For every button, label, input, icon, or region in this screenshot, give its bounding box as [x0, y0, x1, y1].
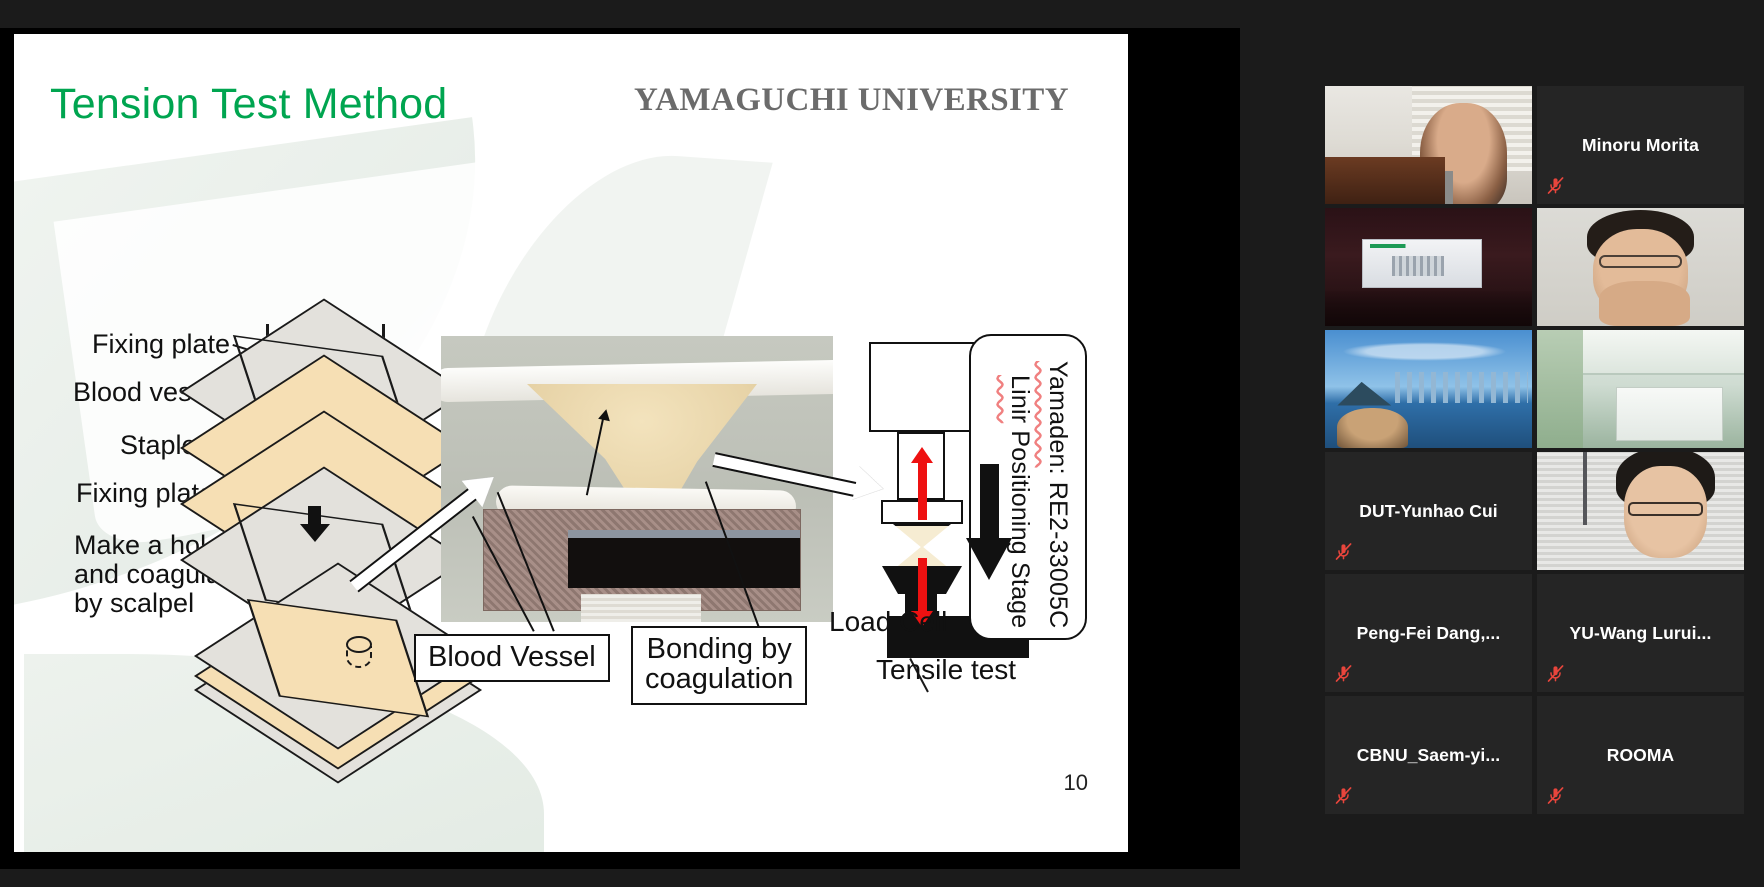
participant-tile-7[interactable]: DUT-Yunhao Cui [1325, 452, 1532, 570]
slide-page-number: 10 [1064, 770, 1088, 796]
red-arrow-down-icon [918, 558, 927, 612]
stage-label-line2: Yamaden: RE2-33005C [1043, 361, 1072, 628]
shared-screen-area[interactable]: Tension Test Method YAMAGUCHI UNIVERSITY… [0, 28, 1240, 869]
mic-muted-icon [1546, 785, 1565, 806]
mic-muted-icon [1546, 663, 1565, 684]
participant-video-feed [1325, 208, 1532, 326]
participant-video-feed [1537, 330, 1744, 448]
participant-tile-2[interactable]: Minoru Morita [1537, 86, 1744, 204]
university-brand-text: YAMAGUCHI UNIVERSITY [634, 82, 1069, 119]
participant-tile-1[interactable] [1325, 86, 1532, 204]
participant-video-feed [1537, 208, 1744, 326]
participant-video-feed [1325, 330, 1532, 448]
assembled-fixture-diagram [246, 554, 436, 664]
stage-travel-down-arrow-icon [966, 464, 1012, 584]
mic-muted-icon [1334, 785, 1353, 806]
mic-muted-icon [1334, 663, 1353, 684]
caption-bonding-by-coagulation: Bonding by coagulation [631, 626, 807, 705]
participant-name-label: ROOMA [1601, 745, 1681, 766]
participant-name-label: Minoru Morita [1576, 135, 1705, 156]
participant-tile-8[interactable] [1537, 452, 1744, 570]
pointer-arrowhead-tissue-top [598, 408, 612, 421]
participant-tile-5[interactable] [1325, 330, 1532, 448]
exploded-assembly-diagram [232, 302, 412, 542]
label-load-cell: Load Cell [829, 606, 947, 638]
participant-tile-11[interactable]: CBNU_Saem-yi... [1325, 696, 1532, 814]
mic-muted-icon [1334, 541, 1353, 562]
slide-title: Tension Test Method [50, 80, 447, 129]
participant-name-label: DUT-Yunhao Cui [1353, 501, 1503, 522]
participant-tile-12[interactable]: ROOMA [1537, 696, 1744, 814]
hole-icon [346, 636, 372, 653]
red-arrow-up-icon [918, 462, 927, 520]
participant-tile-10[interactable]: YU-Wang Lurui... [1537, 574, 1744, 692]
participant-tile-6[interactable] [1537, 330, 1744, 448]
caption-blood-vessel: Blood Vessel [414, 634, 610, 682]
participant-tile-4[interactable] [1537, 208, 1744, 326]
participant-tile-9[interactable]: Peng-Fei Dang,... [1325, 574, 1532, 692]
mic-muted-icon [1546, 175, 1565, 196]
label-tensile-test: Tensile test [876, 654, 1016, 686]
participant-name-label: Peng-Fei Dang,... [1351, 623, 1507, 644]
zoom-meeting-window: Tension Test Method YAMAGUCHI UNIVERSITY… [0, 0, 1764, 887]
participant-video-feed [1537, 452, 1744, 570]
participant-video-grid: Minoru Morita DUT-Yunhao Cui Peng-Fei Da… [1325, 86, 1750, 822]
participant-name-label: CBNU_Saem-yi... [1351, 745, 1507, 766]
presentation-slide: Tension Test Method YAMAGUCHI UNIVERSITY… [14, 34, 1128, 852]
participant-tile-3[interactable] [1325, 208, 1532, 326]
label-fixing-plate-top: Fixing plate [92, 329, 230, 359]
participant-video-feed [1325, 86, 1532, 204]
participant-name-label: YU-Wang Lurui... [1564, 623, 1718, 644]
